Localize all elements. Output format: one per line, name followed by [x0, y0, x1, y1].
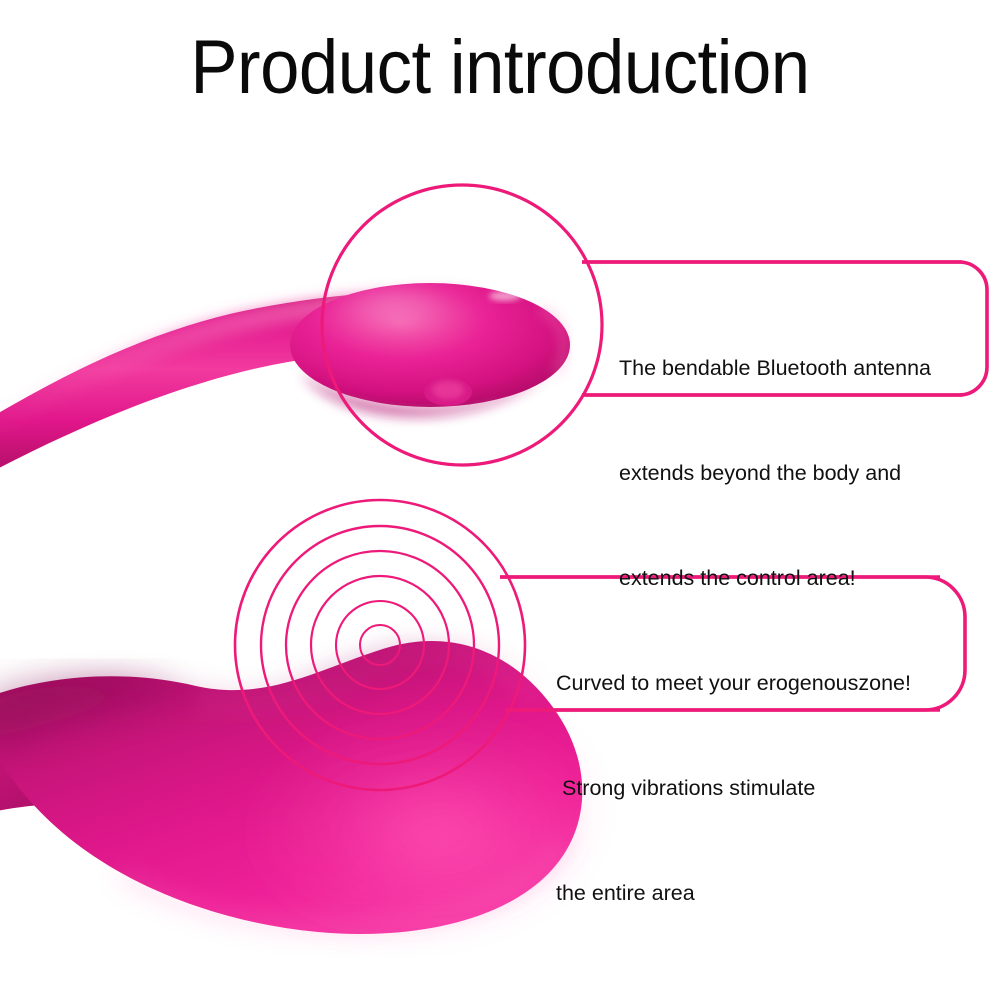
- ripple-circle-6: [360, 625, 400, 665]
- callout-2-line-1: Curved to meet your erogenouszone!: [556, 666, 911, 701]
- highlight-circle: [322, 185, 602, 465]
- callout-1-line-3: extends the control area!: [619, 561, 931, 596]
- ripple-circle-4: [311, 576, 449, 714]
- callout-2-line-2: Strong vibrations stimulate: [556, 771, 911, 806]
- ripple-circle-3: [286, 551, 474, 739]
- ripple-circle-1: [235, 500, 525, 790]
- callout-2-line-3: the entire area: [556, 876, 911, 911]
- callout-2-text: Curved to meet your erogenouszone! Stron…: [556, 596, 911, 981]
- ripple-circle-2: [261, 526, 499, 764]
- callout-1-line-1: The bendable Bluetooth antenna: [619, 351, 931, 386]
- vibration-ripple-circles: [235, 500, 525, 790]
- product-introduction-infographic: Product introduction: [0, 0, 1000, 1000]
- ripple-circle-5: [336, 601, 424, 689]
- callout-1-line-2: extends beyond the body and: [619, 456, 931, 491]
